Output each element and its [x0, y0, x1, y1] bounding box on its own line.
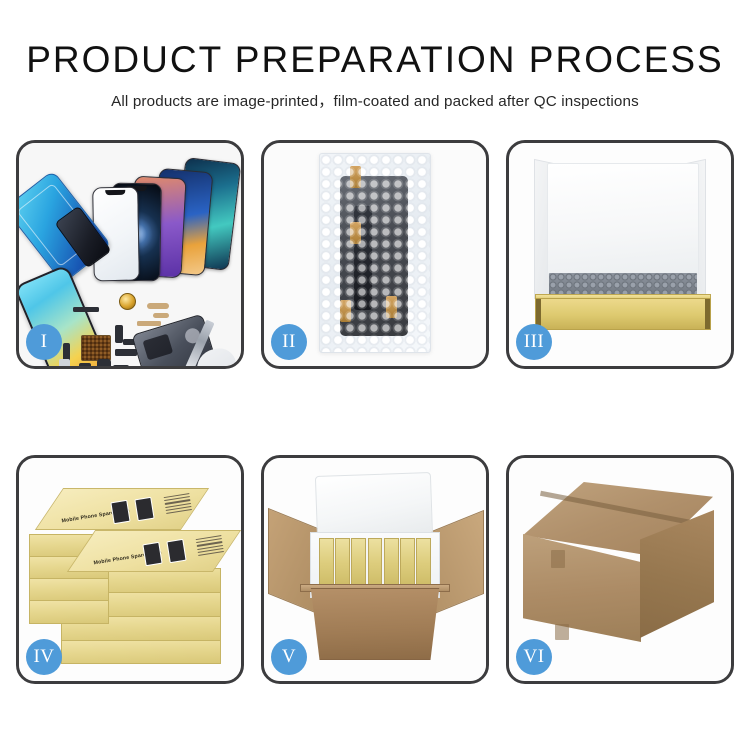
stacked-box-l4: [29, 600, 109, 624]
part-flex-tan-2: [153, 313, 169, 318]
step-badge-5: V: [271, 639, 307, 675]
protector-notch-icon: [105, 190, 125, 195]
page-subtitle: All products are image-printed，film-coat…: [0, 89, 750, 111]
step-image-1: I: [19, 143, 241, 366]
step-panel-6[interactable]: VI: [506, 455, 734, 684]
part-strip-2: [115, 325, 123, 343]
connector-icon-2: [350, 222, 361, 244]
kraft-box-front-icon: [535, 298, 711, 330]
part-flex-tan-1: [147, 303, 169, 309]
printed-box-lid-2: Mobile Phone Spare Parts: [67, 530, 241, 572]
box-screen-art-1b: [134, 497, 154, 521]
packed-box-2: [335, 538, 350, 588]
box-screen-art-2b: [166, 539, 186, 563]
foam-sheet-icon: [547, 163, 699, 275]
box-screen-art-2a: [142, 542, 162, 566]
infographic-page: PRODUCT PREPARATION PROCESS All products…: [0, 0, 750, 750]
box-spec-lines-2: [196, 535, 225, 558]
header: PRODUCT PREPARATION PROCESS All products…: [0, 0, 750, 111]
step-panel-1[interactable]: I: [16, 140, 244, 369]
part-square-2: [97, 359, 111, 366]
carton-tape-icon-1: [551, 550, 565, 568]
stacked-box-l3: [29, 578, 109, 602]
step-badge-6: VI: [516, 639, 552, 675]
carton-body-icon: [302, 588, 448, 660]
carton-tape-icon-2: [555, 624, 569, 640]
box-spec-lines-1: [164, 493, 193, 516]
packed-box-3: [351, 538, 366, 588]
packed-box-6: [400, 538, 415, 588]
packed-box-7: [416, 538, 431, 588]
page-title: PRODUCT PREPARATION PROCESS: [0, 40, 750, 80]
step-badge-1: I: [26, 324, 62, 360]
part-flex-tan-3: [137, 321, 161, 326]
step-image-2: II: [264, 143, 486, 366]
step-image-6: VI: [509, 458, 731, 681]
stacked-box-r4: [61, 640, 221, 664]
step-badge-3: III: [516, 324, 552, 360]
step-image-3: III: [509, 143, 731, 366]
part-strip-4: [115, 349, 137, 356]
step-panel-4[interactable]: Mobile Phone Spare Parts Mobile Phone Sp…: [16, 455, 244, 684]
packed-boxes-row: [319, 538, 431, 588]
packed-box-4: [368, 538, 383, 588]
packed-box-5: [384, 538, 399, 588]
part-strip-1: [73, 307, 99, 312]
connector-icon-4: [386, 296, 397, 318]
bubble-wrap-package-icon: [319, 153, 431, 353]
part-pale-1: [59, 359, 70, 366]
box-stack-icon: Mobile Phone Spare Parts Mobile Phone Sp…: [25, 472, 237, 668]
step-badge-4: IV: [26, 639, 62, 675]
packed-box-1: [319, 538, 334, 588]
printed-box-lid-1: Mobile Phone Spare Parts: [35, 488, 209, 530]
gold-component-icon: [119, 293, 136, 310]
step-image-5: V: [264, 458, 486, 681]
step-panel-3[interactable]: III: [506, 140, 734, 369]
connector-icon-1: [350, 166, 361, 188]
step-image-4: Mobile Phone Spare Parts Mobile Phone Sp…: [19, 458, 241, 681]
process-step-grid: I II: [16, 140, 734, 688]
connector-icon-3: [340, 300, 351, 322]
part-square-3: [113, 365, 129, 366]
box-screen-art-1a: [110, 500, 130, 524]
step-panel-2[interactable]: II: [261, 140, 489, 369]
chip-grid-icon: [81, 335, 111, 361]
step-panel-5[interactable]: V: [261, 455, 489, 684]
step-badge-2: II: [271, 324, 307, 360]
part-square-1: [79, 363, 91, 366]
